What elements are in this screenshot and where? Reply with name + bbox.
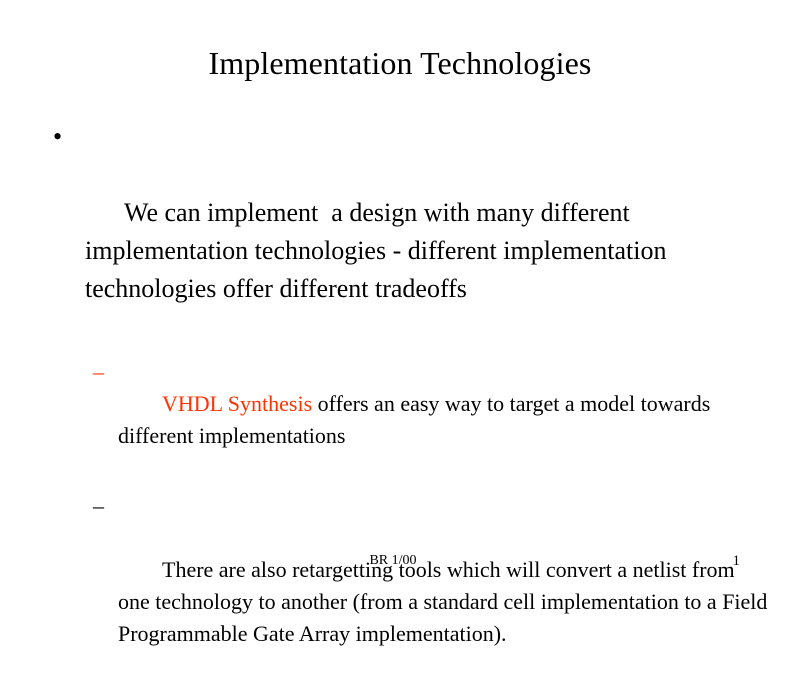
presentation-slide: Implementation Technologies • We can imp… [0,0,800,600]
slide-title: Implementation Technologies [0,44,800,82]
sub-bullet-group: –VHDL Synthesis offers an easy way to ta… [0,356,800,682]
bullet-item-retargetting-tools: – There are also retargetting tools whic… [0,490,800,682]
bullet-dot-icon: • [53,118,62,156]
bullet-item-vhdl-synthesis: –VHDL Synthesis offers an easy way to ta… [0,356,800,484]
slide-footer: BR 1/00 1 [0,551,800,573]
footer-credit: BR 1/00 [0,551,786,571]
bullet-dash-icon: – [93,356,104,388]
bullet-item-level1: • We can implement a design with many di… [0,118,800,346]
bullet-text-level1: We can implement a design with many diff… [85,198,673,303]
bullet-highlight-vhdl-synthesis: VHDL Synthesis [162,391,312,416]
footer-page-number: 1 [733,551,741,571]
bullet-dash-icon: – [93,490,104,522]
slide-body: • We can implement a design with many di… [0,118,800,682]
